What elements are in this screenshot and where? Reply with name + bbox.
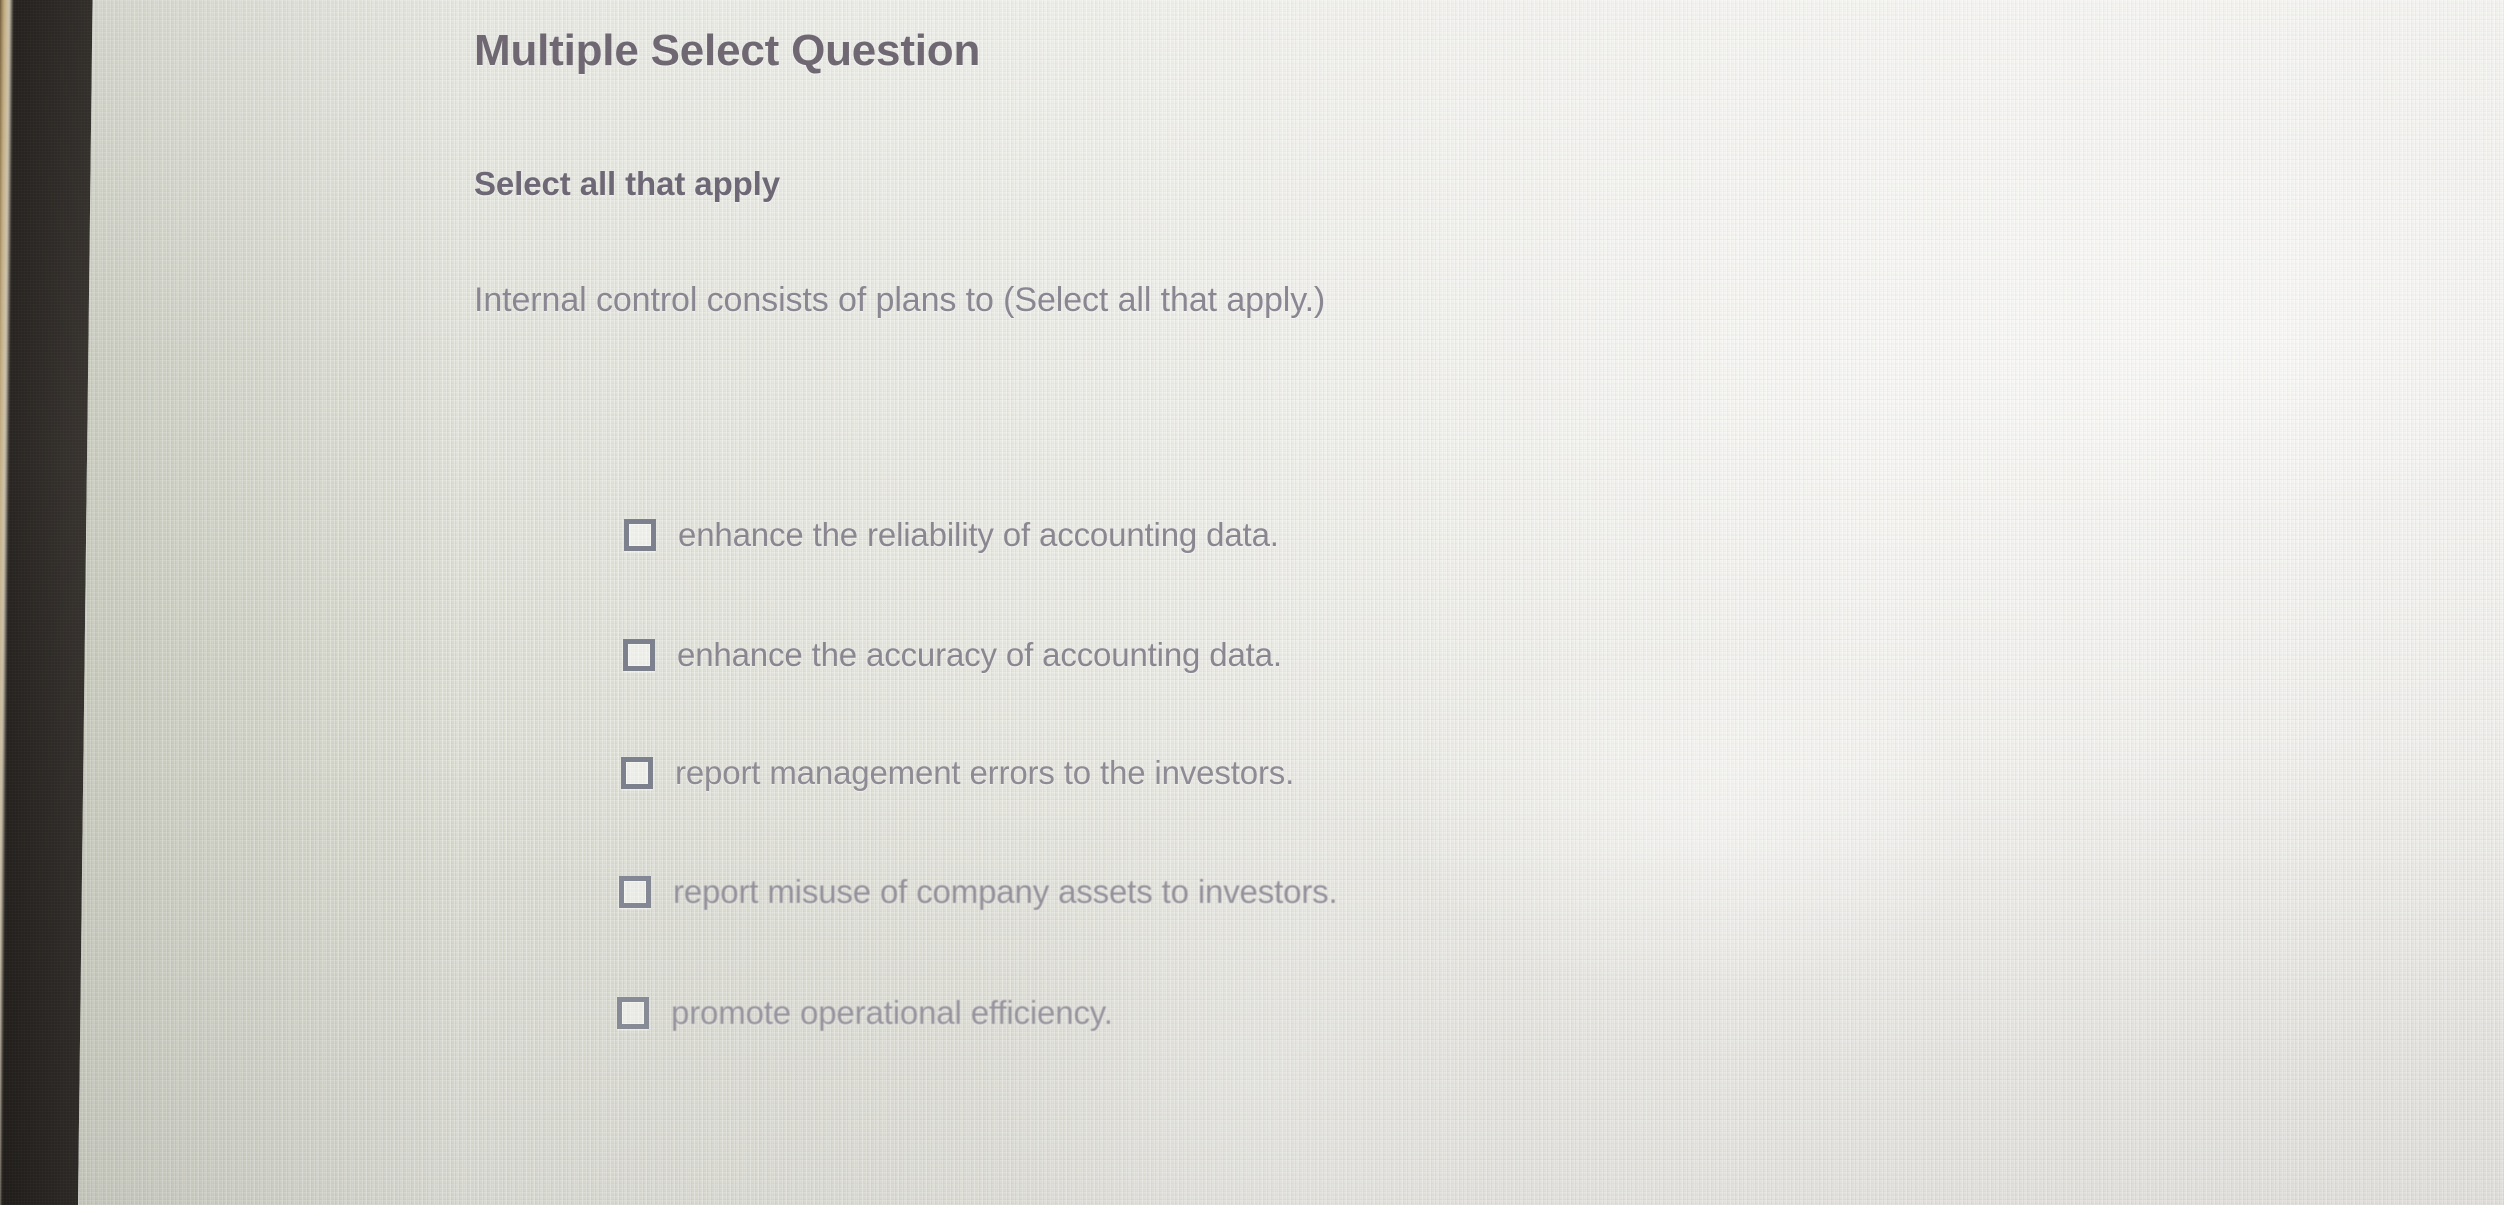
screenshot-root: Multiple Select Question Select all that… <box>0 0 2504 1205</box>
question-content: Multiple Select Question Select all that… <box>78 0 2504 1205</box>
answer-option-label: report misuse of company assets to inves… <box>673 873 1338 911</box>
question-type-heading: Multiple Select Question <box>474 26 980 76</box>
checkbox-icon[interactable] <box>624 519 656 551</box>
checkbox-icon[interactable] <box>617 997 649 1029</box>
answer-option[interactable]: enhance the accuracy of accounting data. <box>623 636 1282 674</box>
question-instruction: Select all that apply <box>474 165 780 203</box>
answer-option-label: promote operational efficiency. <box>671 994 1113 1032</box>
answer-option[interactable]: promote operational efficiency. <box>617 994 1113 1032</box>
answer-option-label: report management errors to the investor… <box>675 754 1294 792</box>
checkbox-icon[interactable] <box>619 876 651 908</box>
answer-option-label: enhance the accuracy of accounting data. <box>677 636 1282 674</box>
answer-option-label: enhance the reliability of accounting da… <box>678 516 1279 554</box>
answer-option[interactable]: enhance the reliability of accounting da… <box>624 516 1279 554</box>
question-stem: Internal control consists of plans to (S… <box>474 281 1325 320</box>
checkbox-icon[interactable] <box>621 757 653 789</box>
checkbox-icon[interactable] <box>623 639 655 671</box>
answer-option[interactable]: report management errors to the investor… <box>621 754 1294 792</box>
screen-surface: Multiple Select Question Select all that… <box>78 0 2504 1205</box>
answer-option[interactable]: report misuse of company assets to inves… <box>619 873 1338 911</box>
